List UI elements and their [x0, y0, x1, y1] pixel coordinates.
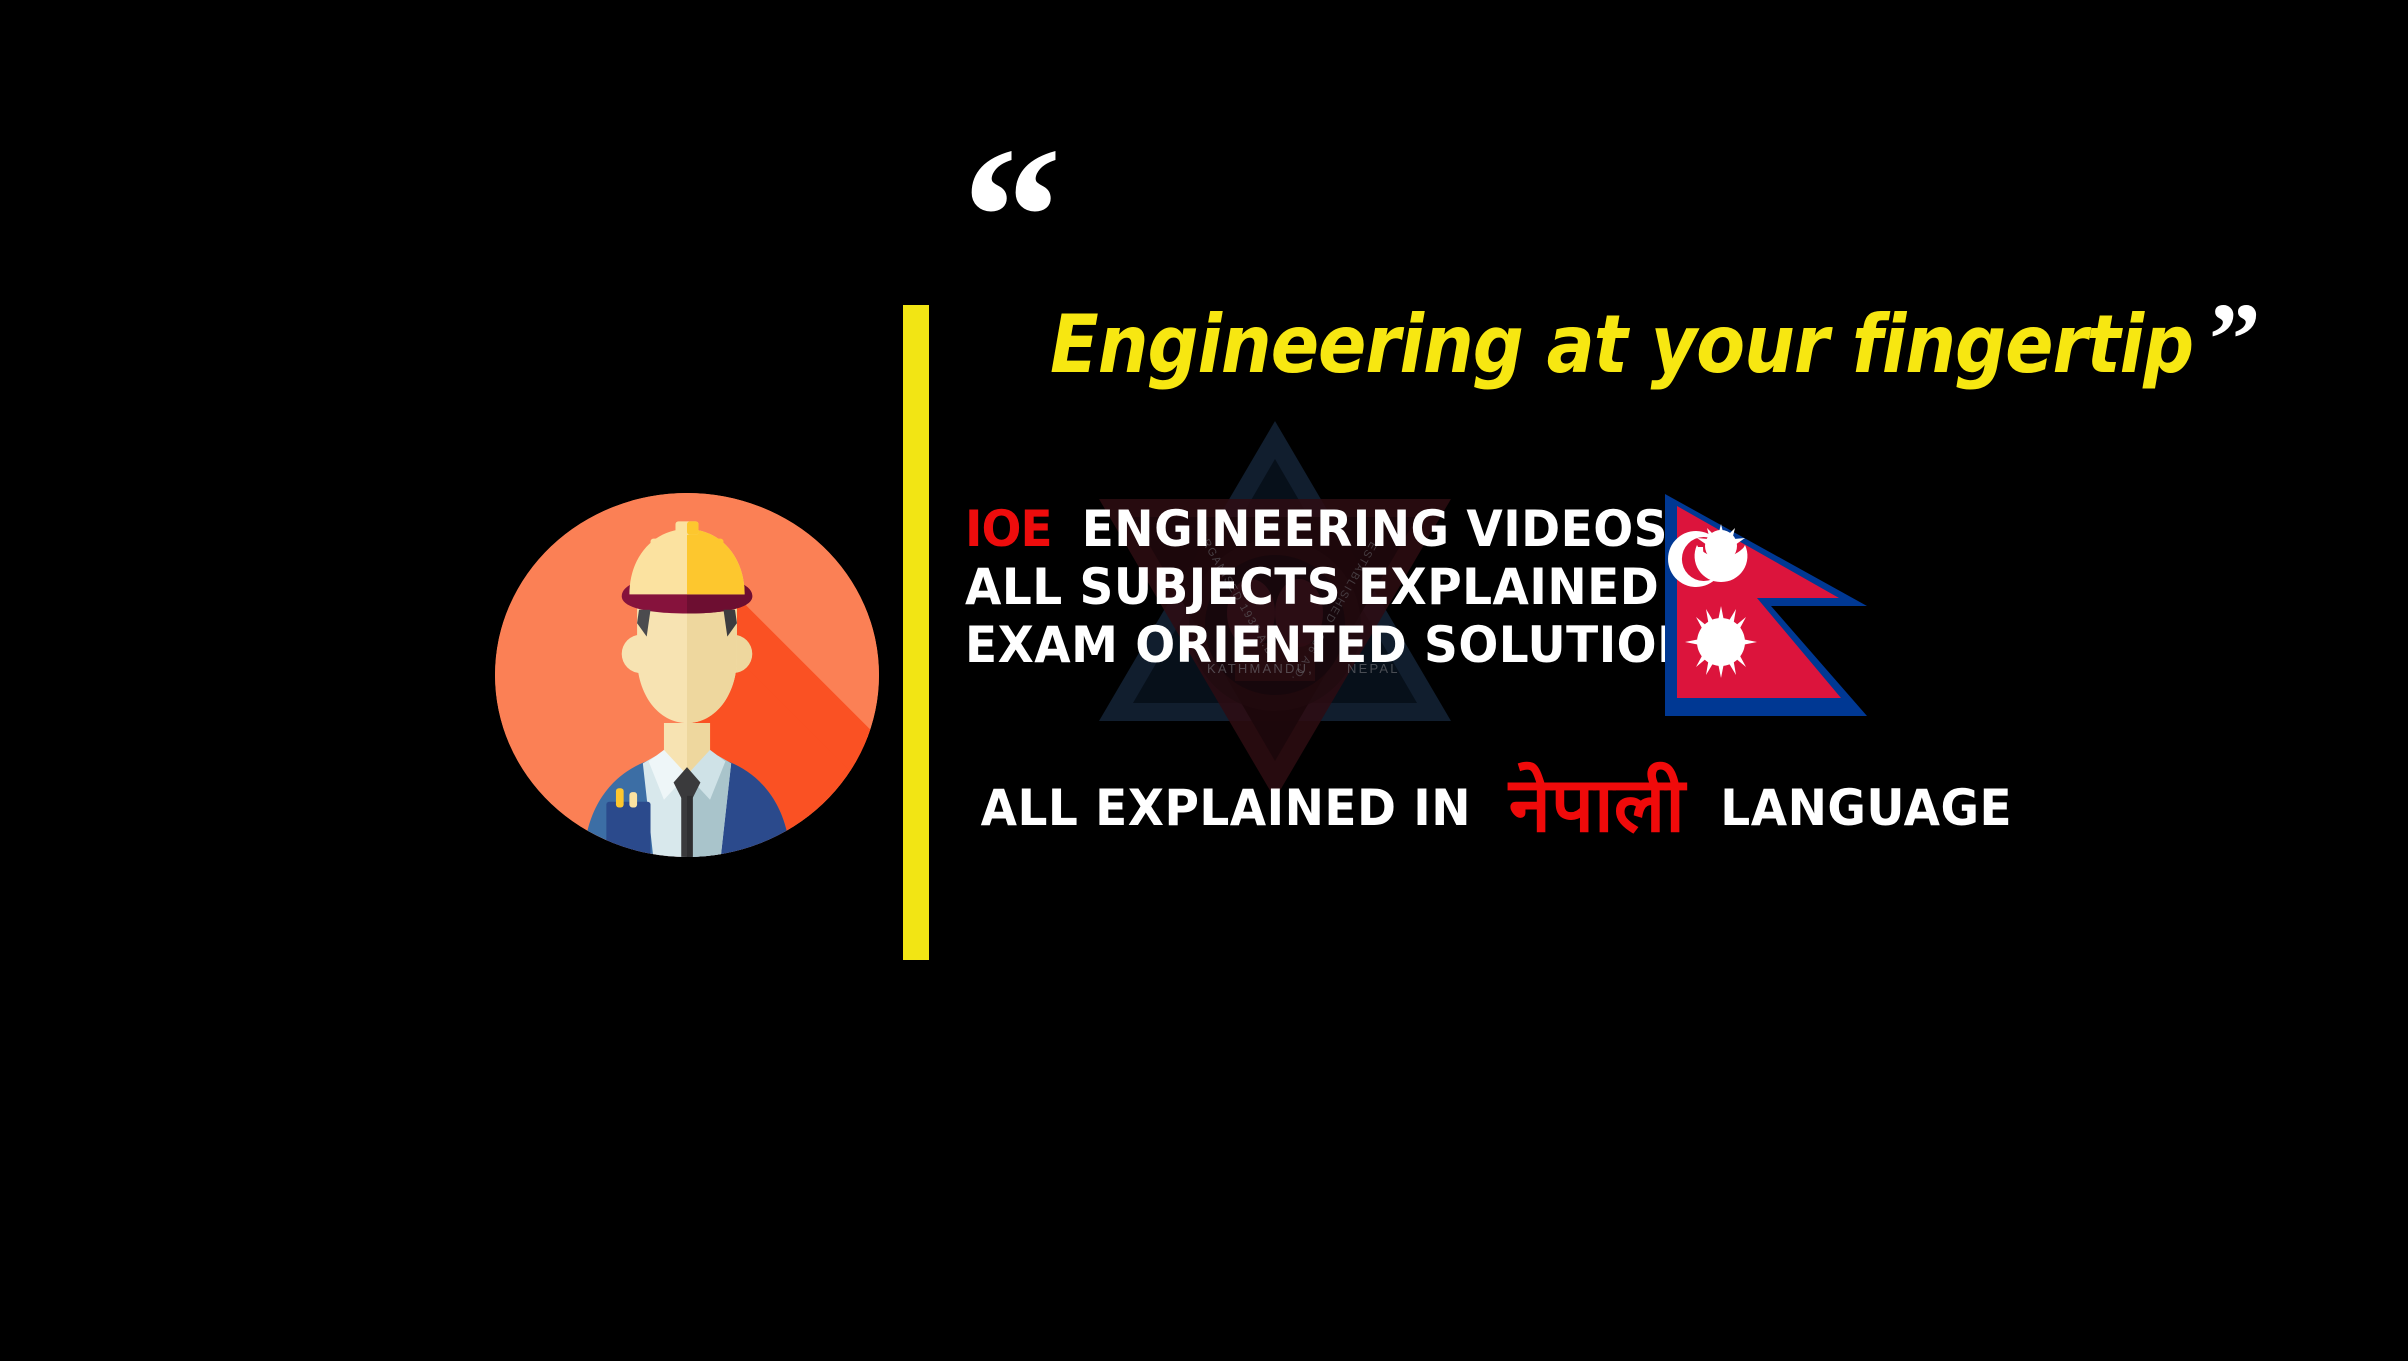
- language-line-suffix: LANGUAGE: [1720, 777, 2012, 839]
- feature-line-2-text: ALL SUBJECTS EXPLAINED: [965, 558, 1659, 616]
- vertical-yellow-divider: [903, 305, 929, 960]
- opening-quote-mark: “: [962, 118, 1056, 318]
- language-line: ALL EXPLAINED IN नेपाली LANGUAGE: [965, 768, 2021, 839]
- ioe-label: IOE: [965, 500, 1052, 558]
- tagline-text: Engineering at your fingertip: [1050, 296, 2193, 392]
- feature-line-3: EXAM ORIENTED SOLUTIONS: [965, 616, 1731, 674]
- feature-line-3-text: EXAM ORIENTED SOLUTIONS: [965, 616, 1731, 674]
- nepal-flag: [1661, 490, 1889, 764]
- tagline-row: Engineering at your fingertip ”: [1050, 296, 2257, 382]
- feature-line-1: IOE ENGINEERING VIDEOS: [965, 500, 1731, 558]
- poster-canvas: KATHMANDU, NEPAL ORGANISED 1936 A.D. EST…: [0, 0, 2408, 1361]
- engineer-avatar-graphic: [495, 493, 879, 857]
- feature-list: IOE ENGINEERING VIDEOS ALL SUBJECTS EXPL…: [965, 500, 1780, 674]
- nepal-flag-graphic: [1661, 490, 1889, 764]
- language-line-prefix: ALL EXPLAINED IN: [981, 777, 1471, 839]
- feature-line-1-text: ENGINEERING VIDEOS: [1082, 500, 1668, 558]
- closing-quote-mark: ”: [2209, 288, 2257, 392]
- feature-line-2: ALL SUBJECTS EXPLAINED: [965, 558, 1731, 616]
- engineer-avatar: [495, 493, 879, 857]
- language-native-name: नेपाली: [1509, 774, 1685, 836]
